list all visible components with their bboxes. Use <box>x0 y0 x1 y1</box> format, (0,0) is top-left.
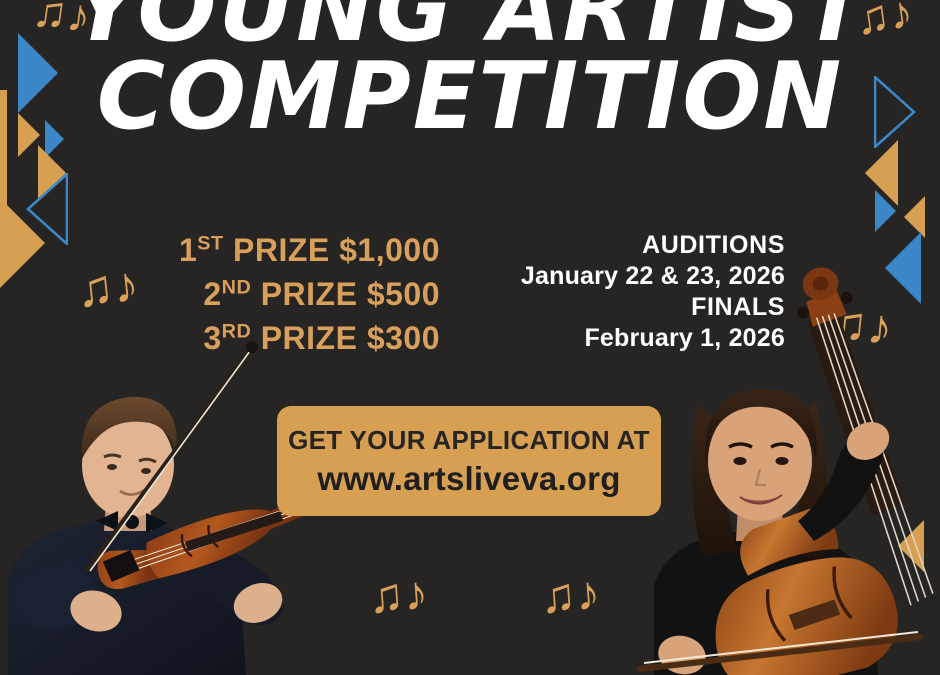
title-line-competition: COMPETITION <box>0 54 940 140</box>
prize-place-1: 1 <box>179 232 197 268</box>
auditions-date: January 22 & 23, 2026 <box>521 261 785 292</box>
prize-amount-1: $1,000 <box>339 232 440 268</box>
finals-heading: FINALS <box>521 292 785 323</box>
prize-row-third: 3RD PRIZE $300 <box>0 316 440 360</box>
music-notes-icon-bottom-right-center: ♫♪ <box>538 570 601 622</box>
prize-label-1: PRIZE <box>233 232 330 268</box>
prize-place-3: 3 <box>203 320 221 356</box>
finals-date: February 1, 2026 <box>521 323 785 354</box>
music-notes-icon-bottom-left-center: ♫♪ <box>366 570 429 622</box>
prize-ordinal-1: ST <box>197 232 223 254</box>
prize-ordinal-3: RD <box>222 321 252 343</box>
cta-website-url[interactable]: www.artsliveva.org <box>317 460 620 498</box>
prize-amount-2: $500 <box>367 276 440 312</box>
schedule-block: AUDITIONS January 22 & 23, 2026 FINALS F… <box>521 230 785 354</box>
auditions-heading: AUDITIONS <box>521 230 785 261</box>
prize-ordinal-2: ND <box>222 277 252 299</box>
prize-row-second: 2ND PRIZE $500 <box>0 272 440 316</box>
prize-label-3: PRIZE <box>261 320 358 356</box>
prize-row-first: 1ST PRIZE $1,000 <box>0 228 440 272</box>
cta-prompt-text: GET YOUR APPLICATION AT <box>288 425 650 456</box>
blue-triangle-right-1 <box>875 190 896 232</box>
poster-canvas: ♫♪ ♫♪ ♫♪ ♫♪ ♫♪ ♫♪ <box>0 0 940 675</box>
poster-title: YOUNG ARTIST COMPETITION <box>0 0 940 139</box>
prize-amount-3: $300 <box>367 320 440 356</box>
prize-label-2: PRIZE <box>261 276 358 312</box>
application-cta-button[interactable]: GET YOUR APPLICATION AT www.artsliveva.o… <box>277 406 661 516</box>
prize-place-2: 2 <box>203 276 221 312</box>
prize-list: 1ST PRIZE $1,000 2ND PRIZE $500 3RD PRIZ… <box>0 228 440 360</box>
